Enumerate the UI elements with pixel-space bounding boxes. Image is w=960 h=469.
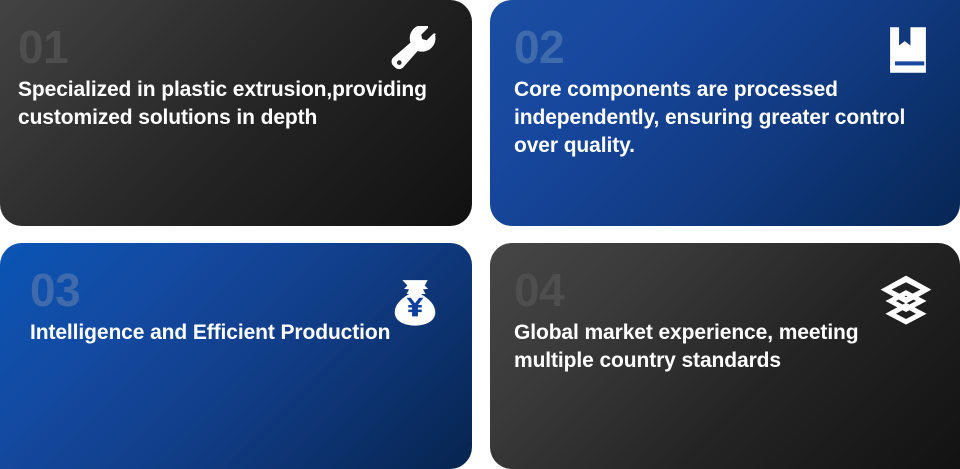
- feature-card-04[interactable]: 04 Global market experience, meeting mul…: [490, 243, 960, 469]
- card-number-02: 02: [514, 24, 930, 70]
- card-number-03: 03: [30, 267, 442, 313]
- card-text-01: Specialized in plastic extrusion,providi…: [18, 76, 438, 132]
- card-number-04: 04: [514, 267, 930, 313]
- card-text-04: Global market experience, meeting multip…: [514, 319, 930, 375]
- feature-card-grid: 01 Specialized in plastic extrusion,prov…: [0, 0, 960, 459]
- card-text-03: Intelligence and Efficient Production: [30, 319, 442, 347]
- feature-card-03[interactable]: 03 Intelligence and Efficient Production: [0, 243, 472, 469]
- card-number-01: 01: [18, 24, 442, 70]
- card-text-02: Core components are processed independen…: [514, 76, 930, 160]
- feature-card-01[interactable]: 01 Specialized in plastic extrusion,prov…: [0, 0, 472, 226]
- feature-card-02[interactable]: 02 Core components are processed indepen…: [490, 0, 960, 226]
